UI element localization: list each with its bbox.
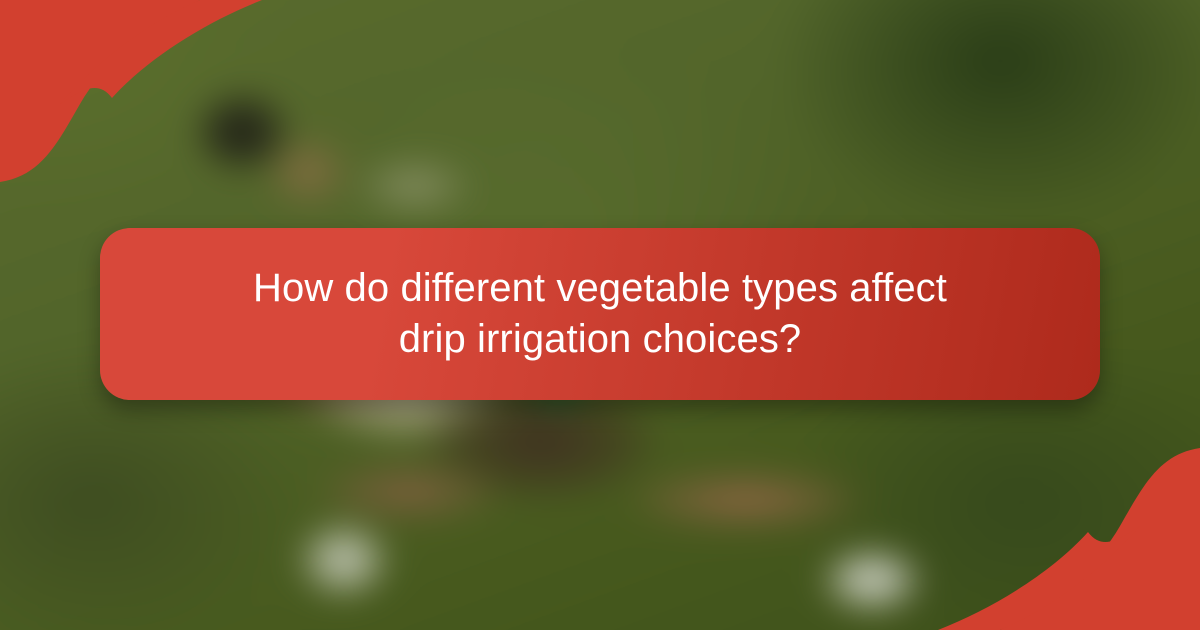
question-card: How do different vegetable types affect … (100, 228, 1100, 400)
social-card-canvas: How do different vegetable types affect … (0, 0, 1200, 630)
question-text: How do different vegetable types affect … (220, 263, 980, 365)
